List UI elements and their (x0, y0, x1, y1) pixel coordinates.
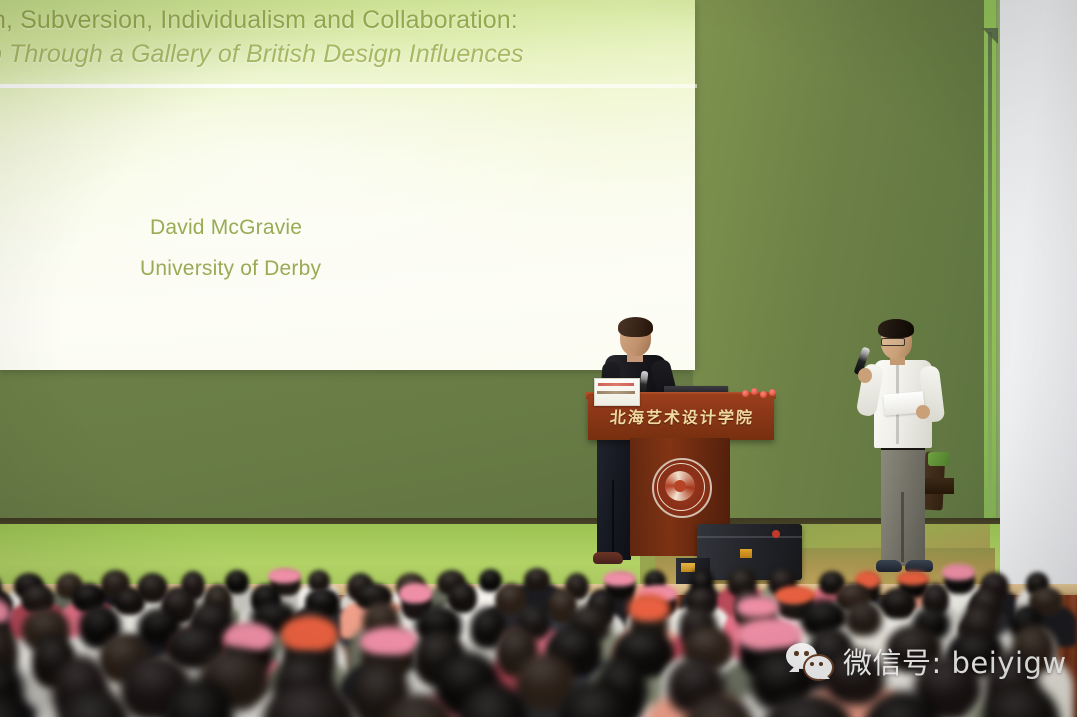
interpreter-shoe-right (905, 560, 933, 572)
speaker-badge-secondary (681, 563, 695, 572)
name-card-line-2 (597, 391, 635, 394)
slide-speaker-name: David McGravie (150, 216, 302, 240)
wechat-id-text: 微信号: beiyigw (843, 640, 1067, 682)
lectern-emblem-core (674, 480, 686, 492)
flower (742, 390, 749, 397)
presenter-leg-seam (612, 480, 614, 558)
lectern-inscription: 北海艺术设计学院 (595, 404, 769, 428)
interpreter-hand-left (858, 368, 872, 383)
slide-title-line-1: on, Subversion, Individualism and Collab… (0, 6, 578, 35)
slide-divider-rule (0, 84, 697, 88)
glasses-icon (881, 338, 905, 346)
flower (760, 391, 767, 398)
speaker-seam (697, 536, 802, 538)
name-card-line-1 (598, 383, 634, 386)
lecture-hall-photo: on, Subversion, Individualism and Collab… (0, 0, 1077, 717)
wechat-icon (786, 643, 834, 679)
presenter-legs (597, 432, 631, 560)
chair-seat (920, 478, 954, 494)
back-wall-right (693, 0, 993, 528)
chair-cushion (928, 452, 950, 466)
presenter-shoe (593, 552, 623, 564)
interpreter-shoe-left (876, 560, 902, 572)
slide-title-line-2: op Through a Gallery of British Design I… (0, 40, 594, 69)
interpreter-leg-seam (901, 492, 904, 562)
flower (769, 389, 776, 396)
flower-decorations (742, 388, 778, 398)
column-seam (988, 32, 992, 512)
speaker-badge (740, 549, 752, 558)
slide-speaker-affiliation: University of Derby (140, 257, 321, 281)
presenter-hair (618, 317, 653, 337)
interpreter-hair (878, 319, 914, 338)
wall-column (1000, 0, 1077, 600)
interpreter-hand-right (916, 405, 930, 419)
flower (751, 388, 758, 395)
wechat-watermark: 微信号: beiyigw (786, 640, 1067, 682)
speaker-indicator (772, 530, 780, 538)
